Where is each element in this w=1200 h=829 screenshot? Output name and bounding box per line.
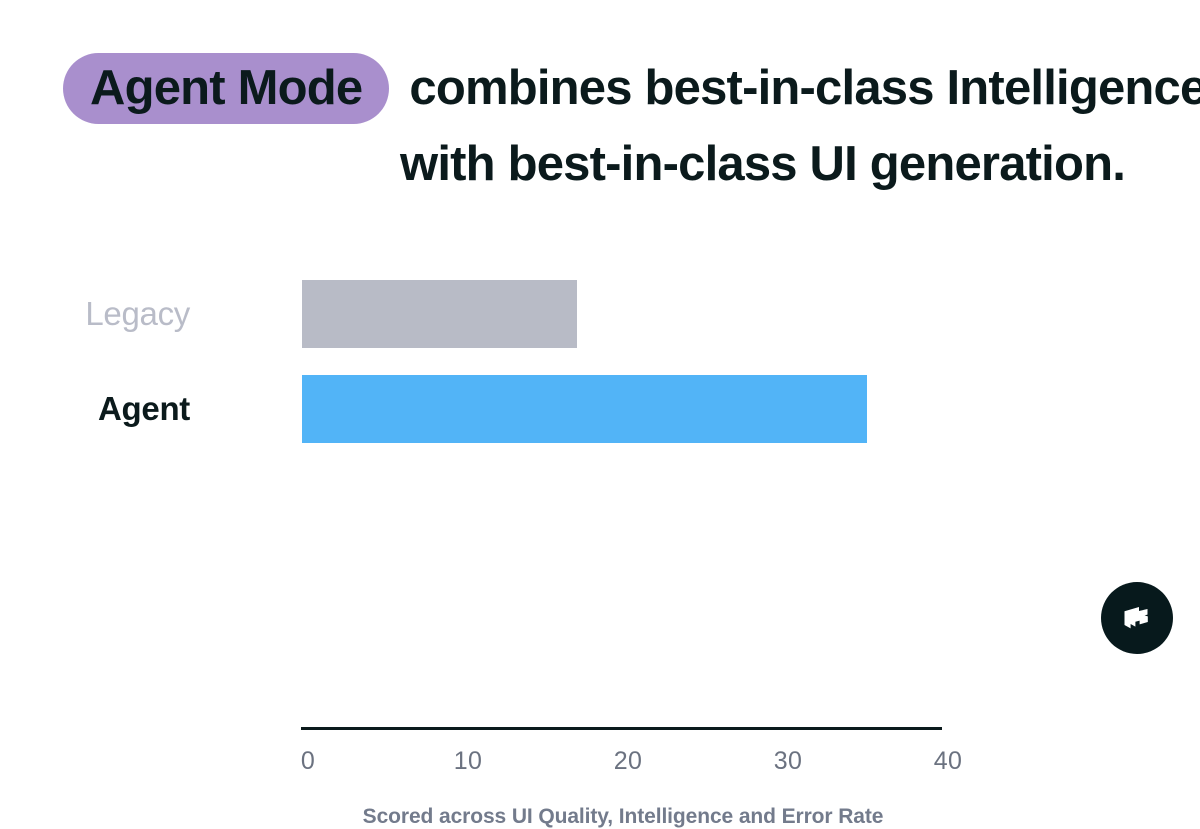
x-tick-0: 0: [301, 747, 315, 776]
headline-line-1: Agent Mode combines best-in-class Intell…: [63, 48, 1153, 128]
bar-agent: [302, 375, 867, 443]
headline-block: Agent Mode combines best-in-class Intell…: [63, 48, 1153, 204]
plot-area: [302, 255, 942, 475]
headline-line-1-text: combines best-in-class Intelligence: [409, 48, 1200, 128]
x-tick-30: 30: [774, 747, 802, 776]
slide-canvas: Agent Mode combines best-in-class Intell…: [0, 0, 1200, 675]
bar-row-agent: [302, 375, 867, 443]
bar-label-agent: Agent: [0, 375, 190, 443]
bar-row-legacy: [302, 280, 577, 348]
x-tick-20: 20: [614, 747, 642, 776]
x-tick-10: 10: [454, 747, 482, 776]
x-tick-40: 40: [934, 747, 962, 776]
headline-line-2: with best-in-class UI generation.: [400, 124, 1153, 204]
x-axis-ticks: 010203040: [301, 747, 942, 781]
x-axis-line: [301, 727, 942, 730]
flag-mark-icon[interactable]: [1101, 582, 1173, 654]
chart-caption: Scored across UI Quality, Intelligence a…: [0, 805, 1200, 829]
bar-legacy: [302, 280, 577, 348]
bar-label-legacy: Legacy: [0, 280, 190, 348]
agent-mode-pill: Agent Mode: [63, 53, 389, 124]
